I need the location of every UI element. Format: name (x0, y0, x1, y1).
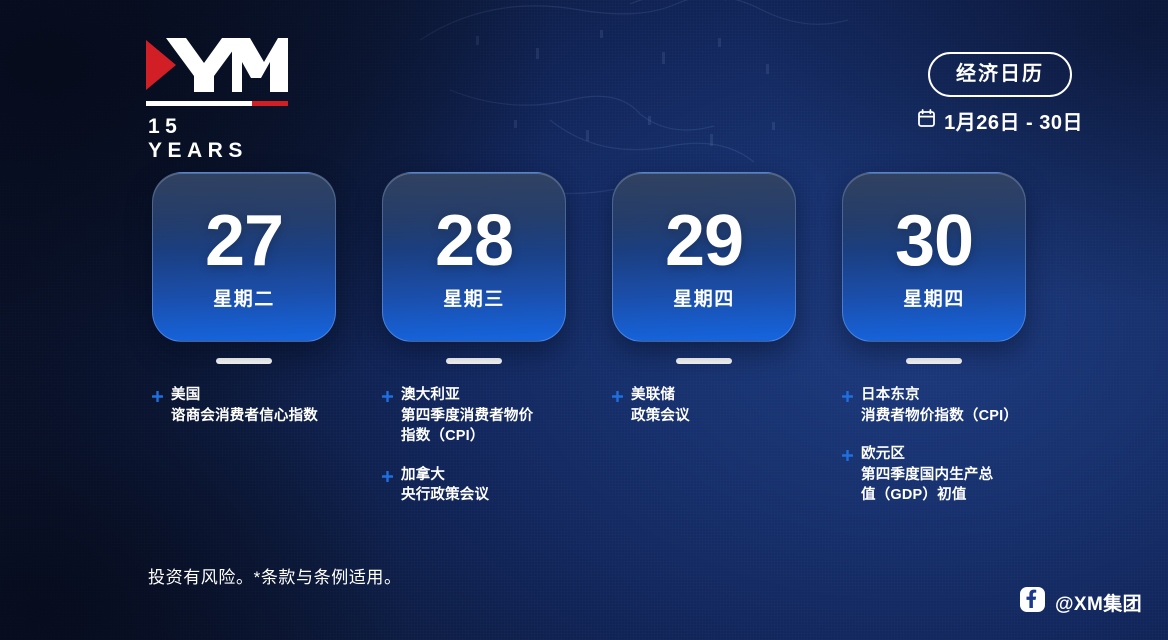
calendar-icon (918, 109, 935, 133)
event-list: 澳大利亚 第四季度消费者物价 指数（CPI） 加拿大 央行政策会议 (382, 385, 597, 506)
logo-divider-accent (252, 101, 288, 106)
card-underline-bar (216, 358, 272, 364)
economic-calendar-poster: 15 YEARS 经济日历 1月26日 - 30日 27 星期二 (0, 0, 1168, 640)
event-item: 欧元区 第四季度国内生产总 值（GDP）初值 (842, 444, 1057, 506)
day-weekday: 星期二 (213, 290, 275, 309)
event-text: 日本东京 消费者物价指数（CPI） (861, 385, 1018, 426)
event-text: 澳大利亚 第四季度消费者物价 指数（CPI） (401, 385, 533, 447)
event-text: 美国 谘商会消费者信心指数 (171, 385, 318, 426)
plus-icon (842, 448, 853, 466)
event-text: 加拿大 央行政策会议 (401, 465, 489, 506)
logo-divider-rule (146, 101, 288, 106)
day-weekday: 星期四 (673, 290, 735, 309)
plus-icon (152, 389, 163, 407)
event-item: 日本东京 消费者物价指数（CPI） (842, 385, 1057, 426)
event-item: 澳大利亚 第四季度消费者物价 指数（CPI） (382, 385, 597, 447)
event-list: 美联储 政策会议 (612, 385, 827, 426)
event-list: 美国 谘商会消费者信心指数 (152, 385, 367, 426)
social-handle[interactable]: @XM集团 (1020, 587, 1142, 618)
day-cards-row: 27 星期二 美国 谘商会消费者信心指数 28 星期三 (152, 172, 1026, 506)
event-item: 加拿大 央行政策会议 (382, 465, 597, 506)
event-text: 欧元区 第四季度国内生产总 值（GDP）初值 (861, 444, 993, 506)
economic-calendar-badge: 经济日历 (928, 52, 1072, 97)
card-underline-bar (446, 358, 502, 364)
event-text: 美联储 政策会议 (631, 385, 690, 426)
risk-disclaimer: 投资有风险。*条款与条例适用。 (148, 563, 402, 588)
day-column: 30 星期四 日本东京 消费者物价指数（CPI） (842, 172, 1026, 506)
card-underline-bar (906, 358, 962, 364)
plus-icon (382, 469, 393, 487)
day-column: 29 星期四 美联储 政策会议 (612, 172, 796, 506)
day-card[interactable]: 30 星期四 (842, 172, 1026, 342)
event-list: 日本东京 消费者物价指数（CPI） 欧元区 第四季度国内生产总 值（GDP）初值 (842, 385, 1057, 506)
day-number: 28 (435, 205, 513, 277)
card-underline-bar (676, 358, 732, 364)
plus-icon (842, 389, 853, 407)
day-number: 30 (895, 205, 973, 277)
xm-logo-mark (146, 34, 288, 96)
day-card[interactable]: 28 星期三 (382, 172, 566, 342)
xm-logo: 15 YEARS (146, 34, 288, 163)
date-range: 1月26日 - 30日 (918, 106, 1083, 135)
social-handle-text: @XM集团 (1055, 589, 1142, 616)
logo-anniversary-text: 15 YEARS (146, 115, 288, 163)
plus-icon (612, 389, 623, 407)
event-item: 美联储 政策会议 (612, 385, 827, 426)
day-column: 28 星期三 澳大利亚 第四季度消费者物价 指数（CPI） (382, 172, 566, 506)
plus-icon (382, 389, 393, 407)
facebook-icon[interactable] (1020, 587, 1045, 618)
day-card[interactable]: 29 星期四 (612, 172, 796, 342)
event-item: 美国 谘商会消费者信心指数 (152, 385, 367, 426)
date-range-text: 1月26日 - 30日 (944, 106, 1083, 135)
day-card[interactable]: 27 星期二 (152, 172, 336, 342)
day-weekday: 星期三 (443, 290, 505, 309)
day-number: 27 (205, 205, 283, 277)
day-number: 29 (665, 205, 743, 277)
day-column: 27 星期二 美国 谘商会消费者信心指数 (152, 172, 336, 506)
day-weekday: 星期四 (903, 290, 965, 309)
